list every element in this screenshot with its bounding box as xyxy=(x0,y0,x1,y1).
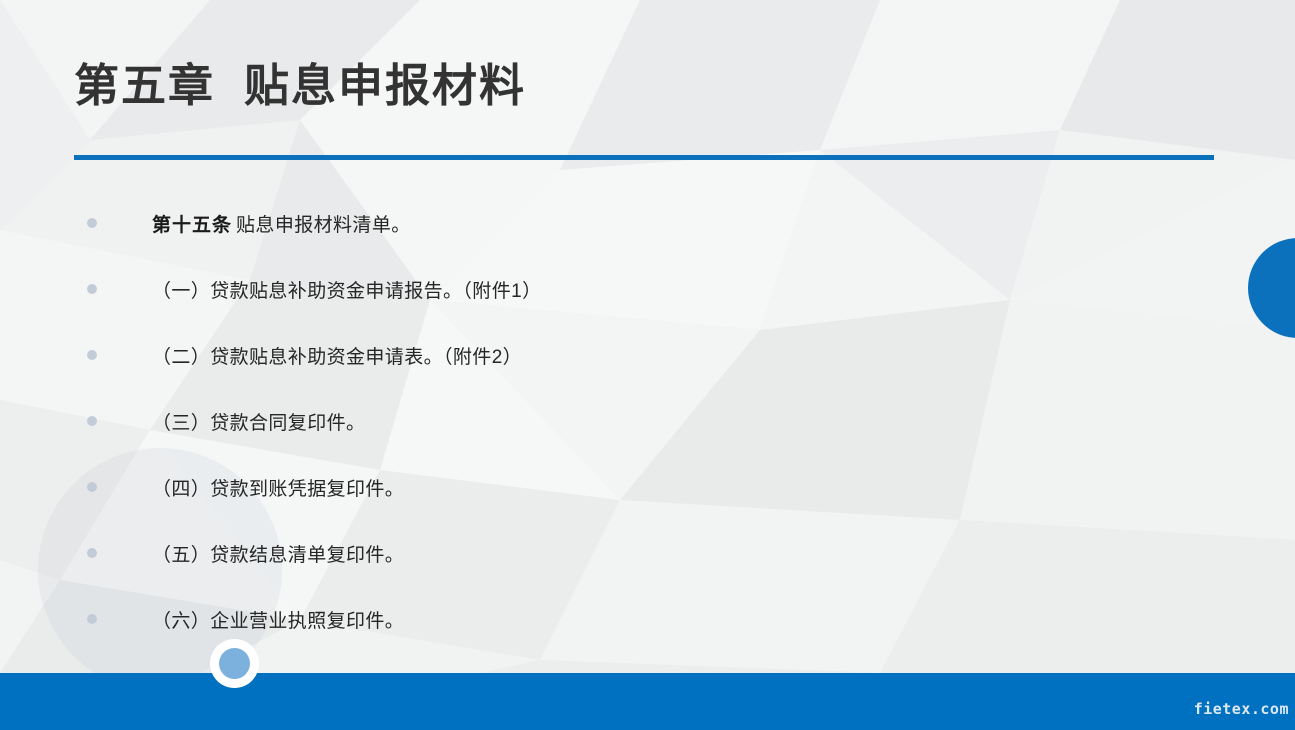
footer-accent-circle-inner xyxy=(219,648,250,679)
footer-accent-circle xyxy=(210,639,259,688)
list-item-body: （四）贷款到账凭据复印件。 xyxy=(152,479,404,500)
bullet-dot-icon xyxy=(87,218,97,228)
list-item: （一）贷款贴息补助资金申请报告。（附件1） xyxy=(74,256,1214,322)
page-title: 第五章 贴息申报材料 xyxy=(74,58,526,114)
bullet-dot-icon xyxy=(87,284,97,294)
list-item-text: （三）贷款合同复印件。 xyxy=(152,408,365,435)
list-item: （三）贷款合同复印件。 xyxy=(74,388,1214,454)
list-item-text: （五）贷款结息清单复印件。 xyxy=(152,540,404,567)
footer-bar xyxy=(0,673,1295,730)
list-item-text: （一）贷款贴息补助资金申请报告。（附件1） xyxy=(152,276,541,303)
list-item-body: （一）贷款贴息补助资金申请报告。（附件1） xyxy=(152,281,541,302)
slide-canvas: 第五章 贴息申报材料 第十五条贴息申报材料清单。 （一）贷款贴息补助资金申请报告… xyxy=(0,0,1295,730)
list-item-text: （六）企业营业执照复印件。 xyxy=(152,606,404,633)
list-item: （二）贷款贴息补助资金申请表。（附件2） xyxy=(74,322,1214,388)
list-item: （四）贷款到账凭据复印件。 xyxy=(74,454,1214,520)
list-item-body: （三）贷款合同复印件。 xyxy=(152,413,365,434)
list-item: （五）贷款结息清单复印件。 xyxy=(74,520,1214,586)
bullet-dot-icon xyxy=(87,416,97,426)
list-item-body: 贴息申报材料清单。 xyxy=(236,215,411,236)
bullet-dot-icon xyxy=(87,548,97,558)
bullet-dot-icon xyxy=(87,614,97,624)
title-underline-rule xyxy=(74,155,1214,160)
list-item-lead: 第十五条 xyxy=(152,215,232,236)
list-item-text: （二）贷款贴息补助资金申请表。（附件2） xyxy=(152,342,522,369)
watermark-text: fietex.com xyxy=(1194,700,1289,718)
bullet-dot-icon xyxy=(87,350,97,360)
bullet-dot-icon xyxy=(87,482,97,492)
list-item-body: （六）企业营业执照复印件。 xyxy=(152,611,404,632)
list-item: 第十五条贴息申报材料清单。 xyxy=(74,190,1214,256)
list-item-text: （四）贷款到账凭据复印件。 xyxy=(152,474,404,501)
list-item-body: （五）贷款结息清单复印件。 xyxy=(152,545,404,566)
list-item-text: 第十五条贴息申报材料清单。 xyxy=(152,210,411,237)
material-list: 第十五条贴息申报材料清单。 （一）贷款贴息补助资金申请报告。（附件1） （二）贷… xyxy=(74,190,1214,652)
list-item-body: （二）贷款贴息补助资金申请表。（附件2） xyxy=(152,347,522,368)
